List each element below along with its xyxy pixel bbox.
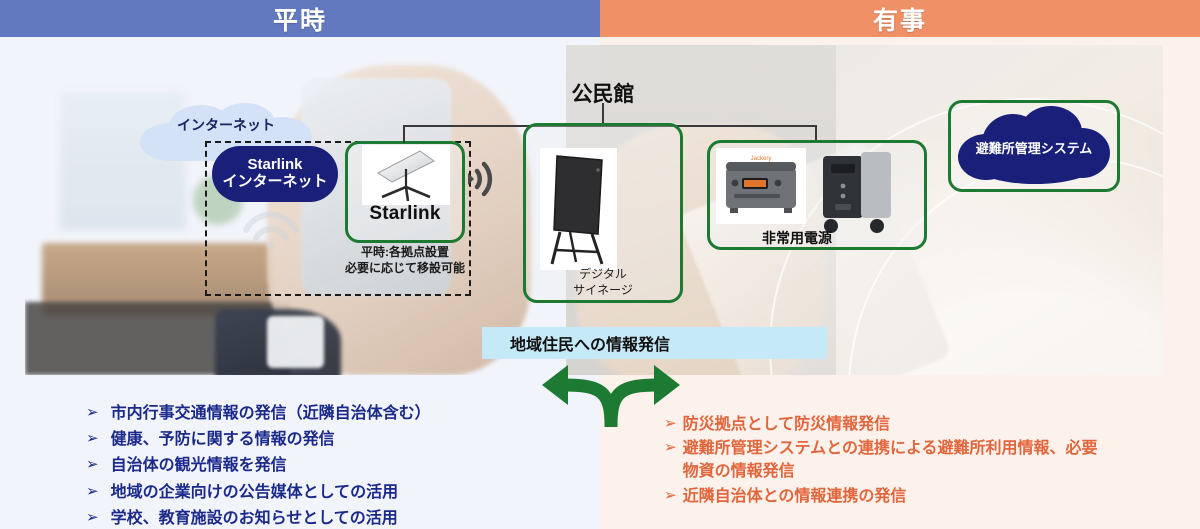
signage-label-line2: サイネージ	[523, 282, 683, 298]
list-item: ➢ 健康、予防に関する情報の発信	[86, 428, 556, 451]
connector-left-drop	[403, 125, 405, 143]
list-item-label: 市内行事交通情報の発信（近隣自治体含む）	[111, 402, 431, 425]
header-peacetime-label: 平時	[273, 1, 327, 37]
bullet-marker-icon: ➢	[664, 485, 677, 507]
header-emergency: 有事	[600, 0, 1200, 37]
cloud-icon: 避難所管理システム	[958, 106, 1110, 186]
starlink-caption: 平時:各拠点設置 必要に応じて移設可能	[323, 245, 487, 276]
satellite-dish-icon	[362, 145, 450, 205]
list-item: ➢ 地域の企業向けの公告媒体としての活用	[86, 481, 556, 504]
list-item: ➢ 近隣自治体との情報連携の発信	[664, 485, 1164, 508]
list-item-label: 避難所管理システムとの連携による避難所利用情報、必要 物資の情報発信	[683, 437, 1098, 483]
signage-photo	[540, 148, 617, 270]
list-item: ➢ 防災拠点として防災情報発信	[664, 413, 1164, 436]
bullet-marker-icon: ➢	[86, 428, 99, 450]
bullet-marker-icon: ➢	[86, 507, 99, 529]
list-item-label: 防災拠点として防災情報発信	[683, 413, 891, 436]
photo-shirt-cuff	[267, 316, 325, 369]
header-peacetime: 平時	[0, 0, 600, 37]
list-item: ➢ 避難所管理システムとの連携による避難所利用情報、必要 物資の情報発信	[664, 437, 1164, 483]
shelter-system-label: 避難所管理システム	[958, 138, 1110, 157]
broadcast-banner-label: 地域住民への情報発信	[510, 331, 670, 355]
peacetime-bullet-list: ➢ 市内行事交通情報の発信（近隣自治体含む） ➢ 健康、予防に関する情報の発信 …	[86, 402, 556, 529]
starlink-internet-pill: Starlink インターネット	[212, 146, 338, 202]
starlink-caption-line1: 平時:各拠点設置	[323, 245, 487, 261]
bullet-marker-icon: ➢	[86, 481, 99, 503]
power-label: 非常用電源	[707, 228, 887, 248]
starlink-pill-line2: インターネット	[222, 174, 327, 191]
list-item-label: 学校、教育施設のお知らせとしての活用	[111, 507, 398, 529]
signage-label: デジタル サイネージ	[523, 266, 683, 298]
emergency-bullet-list: ➢ 防災拠点として防災情報発信 ➢ 避難所管理システムとの連携による避難所利用情…	[664, 413, 1164, 509]
portable-power-station-icon: Jackery	[716, 148, 806, 224]
mobile-battery-cart-icon	[817, 150, 903, 240]
svg-text:Jackery: Jackery	[751, 156, 772, 162]
list-item-label: 地域の企業向けの公告媒体としての活用	[111, 481, 399, 504]
broadcast-banner: 地域住民への情報発信	[482, 327, 827, 359]
infographic-canvas: 平時 有事 インターネット	[0, 0, 1200, 529]
starlink-pill-line1: Starlink	[247, 157, 302, 174]
list-item: ➢ 市内行事交通情報の発信（近隣自治体含む）	[86, 402, 556, 425]
bullet-marker-icon: ➢	[86, 402, 99, 424]
list-item-label: 近隣自治体との情報連携の発信	[683, 485, 907, 508]
phone-wifi-ghost-icon	[236, 196, 306, 252]
signage-label-line1: デジタル	[523, 266, 683, 282]
bullet-marker-icon: ➢	[664, 413, 677, 435]
starlink-caption-line2: 必要に応じて移設可能	[323, 261, 487, 277]
wifi-signal-icon	[466, 156, 506, 202]
starlink-dish-photo	[362, 145, 450, 205]
header-emergency-label: 有事	[873, 1, 927, 37]
list-item-label: 健康、予防に関する情報の発信	[111, 428, 335, 451]
bullet-marker-icon: ➢	[664, 437, 677, 459]
digital-signage-icon	[540, 148, 617, 270]
power-station-photo: Jackery	[716, 148, 806, 224]
starlink-box-label: Starlink	[345, 203, 465, 225]
list-item: ➢ 自治体の観光情報を発信	[86, 454, 556, 477]
list-item-label: 自治体の観光情報を発信	[111, 454, 287, 477]
internet-cloud-label: インターネット	[140, 115, 312, 135]
list-item: ➢ 学校、教育施設のお知らせとしての活用	[86, 507, 556, 529]
bullet-marker-icon: ➢	[86, 454, 99, 476]
